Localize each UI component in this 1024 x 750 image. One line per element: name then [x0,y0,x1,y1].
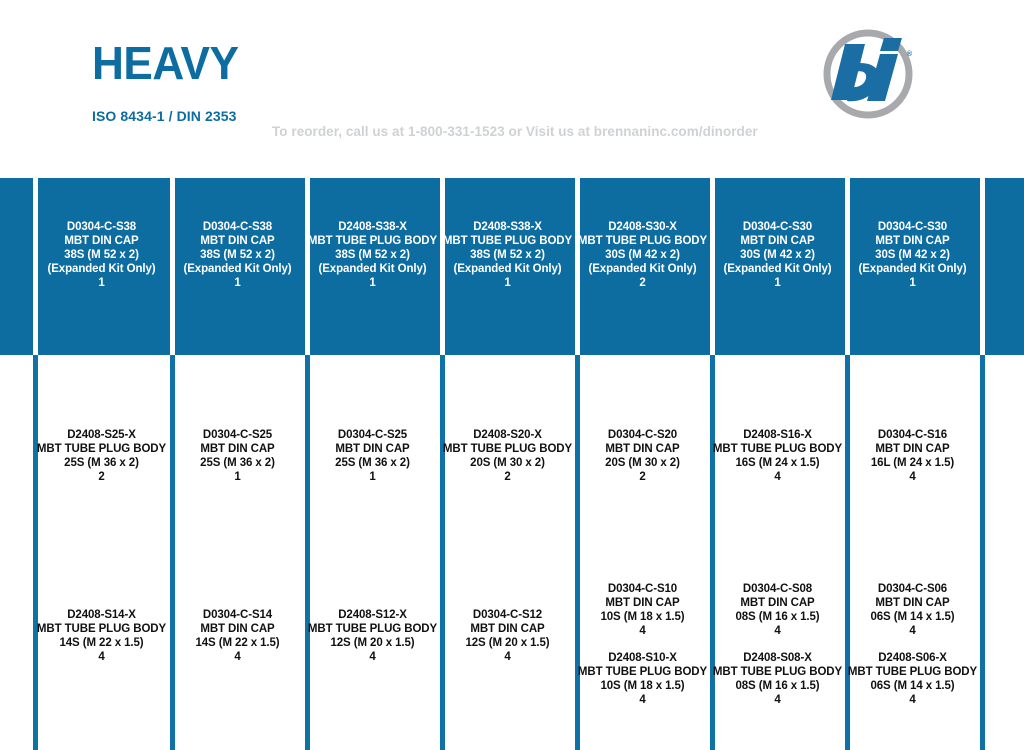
part-number: D2408-S38-X [440,220,575,234]
registered-trademark-icon: ® [907,51,912,58]
part-cell[interactable]: D0304-C-S16MBT DIN CAP16L (M 24 x 1.5)4 [845,428,980,484]
bi-logo-graphic [818,24,918,124]
part-number: D0304-C-S20 [575,428,710,442]
part-number: D0304-C-S06 [845,582,980,596]
part-description: (Expanded Kit Only) [33,262,170,276]
part-quantity: 4 [845,693,980,707]
part-quantity: 1 [33,276,170,290]
table-cells-layer: D0304-C-S38MBT DIN CAP38S (M 52 x 2)(Exp… [0,178,1024,750]
part-description: 25S (M 36 x 2) [33,456,170,470]
part-description: MBT TUBE PLUG BODY [305,234,440,248]
part-cell[interactable]: D2408-S38-XMBT TUBE PLUG BODY38S (M 52 x… [440,220,575,290]
part-quantity: 1 [845,276,980,290]
part-cell[interactable]: D0304-C-S38MBT DIN CAP38S (M 52 x 2)(Exp… [33,220,170,290]
part-number: D2408-S30-X [575,220,710,234]
part-number: D0304-C-S08 [710,582,845,596]
part-block: D2408-S06-XMBT TUBE PLUG BODY06S (M 14 x… [845,651,980,707]
part-description: MBT DIN CAP [170,442,305,456]
block-spacer [845,638,980,651]
part-number: D2408-S12-X [305,608,440,622]
part-description: 16S (M 24 x 1.5) [710,456,845,470]
part-description: 25S (M 36 x 2) [170,456,305,470]
part-cell[interactable]: D0304-C-S30MBT DIN CAP30S (M 42 x 2)(Exp… [845,220,980,290]
part-description: 14S (M 22 x 1.5) [33,636,170,650]
part-quantity: 1 [170,470,305,484]
part-quantity: 2 [440,470,575,484]
part-description: 30S (M 42 x 2) [710,248,845,262]
part-quantity: 1 [440,276,575,290]
part-description: MBT DIN CAP [575,596,710,610]
part-number: D2408-S20-X [440,428,575,442]
part-block: D0304-C-S30MBT DIN CAP30S (M 42 x 2)(Exp… [710,220,845,290]
page-title: HEAVY [92,40,238,86]
reorder-info-text: To reorder, call us at 1-800-331-1523 or… [272,124,758,139]
part-description: MBT TUBE PLUG BODY [33,442,170,456]
part-quantity: 2 [33,470,170,484]
part-block: D2408-S20-XMBT TUBE PLUG BODY20S (M 30 x… [440,428,575,484]
part-description: 38S (M 52 x 2) [440,248,575,262]
part-description: (Expanded Kit Only) [845,262,980,276]
part-description: MBT TUBE PLUG BODY [33,622,170,636]
part-description: 12S (M 20 x 1.5) [440,636,575,650]
part-quantity: 2 [575,470,710,484]
part-description: 16L (M 24 x 1.5) [845,456,980,470]
part-quantity: 2 [575,276,710,290]
part-block: D2408-S14-XMBT TUBE PLUG BODY14S (M 22 x… [33,608,170,664]
part-description: MBT TUBE PLUG BODY [305,622,440,636]
part-cell[interactable]: D0304-C-S06MBT DIN CAP06S (M 14 x 1.5)4D… [845,582,980,707]
part-cell[interactable]: D0304-C-S25MBT DIN CAP25S (M 36 x 2)1 [170,428,305,484]
part-description: (Expanded Kit Only) [305,262,440,276]
part-description: MBT DIN CAP [845,234,980,248]
part-description: 38S (M 52 x 2) [33,248,170,262]
part-description: 12S (M 20 x 1.5) [305,636,440,650]
part-quantity: 4 [170,650,305,664]
part-description: (Expanded Kit Only) [440,262,575,276]
part-quantity: 4 [575,624,710,638]
part-block: D0304-C-S38MBT DIN CAP38S (M 52 x 2)(Exp… [33,220,170,290]
part-quantity: 4 [710,624,845,638]
part-block: D0304-C-S30MBT DIN CAP30S (M 42 x 2)(Exp… [845,220,980,290]
part-description: MBT DIN CAP [305,442,440,456]
part-number: D0304-C-S38 [170,220,305,234]
block-spacer [575,638,710,651]
part-description: MBT DIN CAP [710,234,845,248]
part-cell[interactable]: D0304-C-S38MBT DIN CAP38S (M 52 x 2)(Exp… [170,220,305,290]
part-number: D0304-C-S16 [845,428,980,442]
part-description: 10S (M 18 x 1.5) [575,679,710,693]
part-description: 08S (M 16 x 1.5) [710,679,845,693]
part-block: D2408-S16-XMBT TUBE PLUG BODY16S (M 24 x… [710,428,845,484]
part-block: D0304-C-S20MBT DIN CAP20S (M 30 x 2)2 [575,428,710,484]
part-description: 10S (M 18 x 1.5) [575,610,710,624]
part-block: D2408-S10-XMBT TUBE PLUG BODY10S (M 18 x… [575,651,710,707]
part-description: MBT TUBE PLUG BODY [440,234,575,248]
part-description: 06S (M 14 x 1.5) [845,610,980,624]
part-quantity: 4 [440,650,575,664]
part-cell[interactable]: D0304-C-S20MBT DIN CAP20S (M 30 x 2)2 [575,428,710,484]
part-quantity: 1 [305,470,440,484]
part-number: D0304-C-S30 [845,220,980,234]
part-description: MBT TUBE PLUG BODY [575,665,710,679]
part-description: MBT TUBE PLUG BODY [710,665,845,679]
part-quantity: 1 [170,276,305,290]
part-block: D0304-C-S12MBT DIN CAP12S (M 20 x 1.5)4 [440,608,575,664]
part-quantity: 4 [710,693,845,707]
brennan-bi-logo: ® [818,24,918,124]
part-description: (Expanded Kit Only) [170,262,305,276]
part-number: D2408-S14-X [33,608,170,622]
part-number: D0304-C-S25 [170,428,305,442]
part-cell[interactable]: D0304-C-S12MBT DIN CAP12S (M 20 x 1.5)4 [440,608,575,664]
part-quantity: 4 [845,624,980,638]
part-number: D2408-S16-X [710,428,845,442]
part-block: D2408-S08-XMBT TUBE PLUG BODY08S (M 16 x… [710,651,845,707]
page-header: HEAVY ISO 8434-1 / DIN 2353 To reorder, … [0,0,1024,172]
part-description: MBT DIN CAP [575,442,710,456]
part-block: D2408-S12-XMBT TUBE PLUG BODY12S (M 20 x… [305,608,440,664]
part-number: D2408-S06-X [845,651,980,665]
part-number: D0304-C-S14 [170,608,305,622]
part-description: 30S (M 42 x 2) [575,248,710,262]
part-number: D0304-C-S30 [710,220,845,234]
part-description: MBT TUBE PLUG BODY [710,442,845,456]
part-cell[interactable]: D2408-S38-XMBT TUBE PLUG BODY38S (M 52 x… [305,220,440,290]
part-description: 20S (M 30 x 2) [575,456,710,470]
part-quantity: 1 [305,276,440,290]
part-block: D0304-C-S25MBT DIN CAP25S (M 36 x 2)1 [170,428,305,484]
part-block: D0304-C-S14MBT DIN CAP14S (M 22 x 1.5)4 [170,608,305,664]
page-root: HEAVY ISO 8434-1 / DIN 2353 To reorder, … [0,0,1024,750]
part-cell[interactable]: D2408-S25-XMBT TUBE PLUG BODY25S (M 36 x… [33,428,170,484]
part-description: (Expanded Kit Only) [575,262,710,276]
part-block: D0304-C-S06MBT DIN CAP06S (M 14 x 1.5)4 [845,582,980,638]
part-cell[interactable]: D2408-S30-XMBT TUBE PLUG BODY30S (M 42 x… [575,220,710,290]
part-number: D0304-C-S38 [33,220,170,234]
part-description: MBT DIN CAP [170,622,305,636]
part-quantity: 4 [845,470,980,484]
part-quantity: 4 [305,650,440,664]
part-quantity: 1 [710,276,845,290]
part-cell[interactable]: D0304-C-S30MBT DIN CAP30S (M 42 x 2)(Exp… [710,220,845,290]
part-block: D0304-C-S25MBT DIN CAP25S (M 36 x 2)1 [305,428,440,484]
part-block: D2408-S25-XMBT TUBE PLUG BODY25S (M 36 x… [33,428,170,484]
part-block: D2408-S38-XMBT TUBE PLUG BODY38S (M 52 x… [305,220,440,290]
part-block: D0304-C-S16MBT DIN CAP16L (M 24 x 1.5)4 [845,428,980,484]
standard-subtitle: ISO 8434-1 / DIN 2353 [92,108,237,124]
part-description: MBT DIN CAP [440,622,575,636]
part-number: D2408-S08-X [710,651,845,665]
part-block: D0304-C-S38MBT DIN CAP38S (M 52 x 2)(Exp… [170,220,305,290]
part-description: 38S (M 52 x 2) [305,248,440,262]
part-description: 08S (M 16 x 1.5) [710,610,845,624]
parts-table: D0304-C-S38MBT DIN CAP38S (M 52 x 2)(Exp… [0,178,1024,750]
part-description: 38S (M 52 x 2) [170,248,305,262]
part-number: D0304-C-S10 [575,582,710,596]
part-description: MBT TUBE PLUG BODY [845,665,980,679]
part-description: MBT DIN CAP [33,234,170,248]
part-quantity: 4 [710,470,845,484]
part-block: D0304-C-S08MBT DIN CAP08S (M 16 x 1.5)4 [710,582,845,638]
part-quantity: 4 [575,693,710,707]
part-block: D0304-C-S10MBT DIN CAP10S (M 18 x 1.5)4 [575,582,710,638]
part-cell[interactable]: D2408-S14-XMBT TUBE PLUG BODY14S (M 22 x… [33,608,170,664]
part-description: 30S (M 42 x 2) [845,248,980,262]
part-description: MBT DIN CAP [710,596,845,610]
part-cell[interactable]: D0304-C-S08MBT DIN CAP08S (M 16 x 1.5)4D… [710,582,845,707]
part-block: D2408-S38-XMBT TUBE PLUG BODY38S (M 52 x… [440,220,575,290]
part-cell[interactable]: D2408-S16-XMBT TUBE PLUG BODY16S (M 24 x… [710,428,845,484]
part-number: D0304-C-S12 [440,608,575,622]
part-description: (Expanded Kit Only) [710,262,845,276]
part-quantity: 4 [33,650,170,664]
part-number: D2408-S10-X [575,651,710,665]
part-cell[interactable]: D0304-C-S25MBT DIN CAP25S (M 36 x 2)1 [305,428,440,484]
part-description: 06S (M 14 x 1.5) [845,679,980,693]
part-number: D2408-S38-X [305,220,440,234]
part-description: MBT TUBE PLUG BODY [440,442,575,456]
part-cell[interactable]: D0304-C-S10MBT DIN CAP10S (M 18 x 1.5)4D… [575,582,710,707]
part-description: MBT DIN CAP [170,234,305,248]
part-description: 25S (M 36 x 2) [305,456,440,470]
part-description: 20S (M 30 x 2) [440,456,575,470]
part-number: D0304-C-S25 [305,428,440,442]
part-cell[interactable]: D2408-S12-XMBT TUBE PLUG BODY12S (M 20 x… [305,608,440,664]
part-block: D2408-S30-XMBT TUBE PLUG BODY30S (M 42 x… [575,220,710,290]
part-cell[interactable]: D0304-C-S14MBT DIN CAP14S (M 22 x 1.5)4 [170,608,305,664]
part-description: MBT TUBE PLUG BODY [575,234,710,248]
part-description: 14S (M 22 x 1.5) [170,636,305,650]
part-description: MBT DIN CAP [845,596,980,610]
part-cell[interactable]: D2408-S20-XMBT TUBE PLUG BODY20S (M 30 x… [440,428,575,484]
part-description: MBT DIN CAP [845,442,980,456]
part-number: D2408-S25-X [33,428,170,442]
block-spacer [710,638,845,651]
